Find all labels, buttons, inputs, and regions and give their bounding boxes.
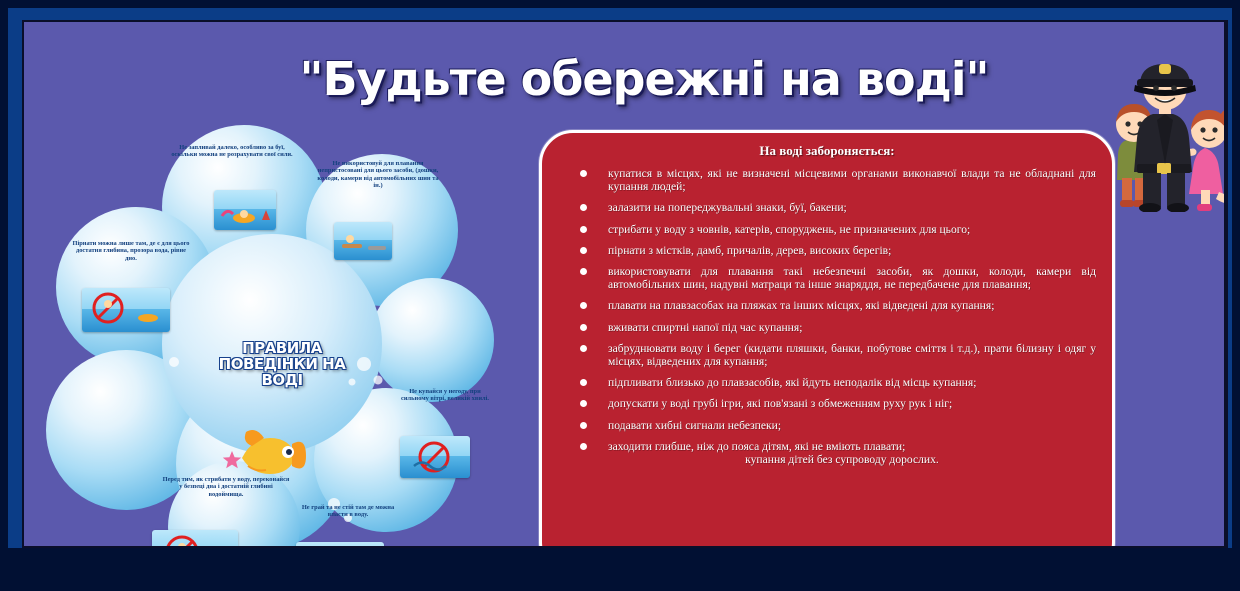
bullet-icon xyxy=(580,345,587,352)
rules-closing-line: купання дітей без супроводу дорослих. xyxy=(542,453,1112,466)
rules-heading: На воді забороняється: xyxy=(542,143,1112,159)
policeman-figure xyxy=(1134,64,1196,212)
cloud-photo-buoy xyxy=(214,190,276,230)
cloud-tip-no-improvised-floats: Не використовуй для плавання непристосов… xyxy=(317,160,439,190)
cloud-photo-no-diving xyxy=(82,288,170,332)
policeman-with-children-illustration xyxy=(1109,52,1224,212)
rule-text: заходити глибше, ніж до пояса дітям, які… xyxy=(608,440,905,453)
bullet-icon xyxy=(580,400,587,407)
bullet-icon xyxy=(580,302,587,309)
list-item: використовувати для плавання такі небезп… xyxy=(560,265,1096,291)
list-item: підпливати близько до плавзасобів, які й… xyxy=(560,376,1096,389)
rule-text: вживати спиртні напої під час купання; xyxy=(608,321,802,334)
list-item: вживати спиртні напої під час купання; xyxy=(560,321,1096,334)
list-item: заходити глибше, ніж до пояса дітям, які… xyxy=(560,440,1096,453)
rule-text: підпливати близько до плавзасобів, які й… xyxy=(608,376,976,389)
bullet-icon xyxy=(580,204,587,211)
rules-panel: На воді забороняється: купатися в місцях… xyxy=(539,130,1115,546)
bullet-icon xyxy=(580,379,587,386)
slide-canvas: "Будьте обережні на воді" xyxy=(24,22,1224,546)
starfish-icon xyxy=(222,450,242,470)
rule-text: плавати на плавзасобах на пляжах та інши… xyxy=(608,299,994,312)
cloud-photo-boards xyxy=(334,222,392,260)
bullet-icon xyxy=(580,226,587,233)
list-item: подавати хибні сигнали небезпеки; xyxy=(560,419,1096,432)
cloud-tip-no-play-near-water: Не грай та не стій там де можна впасти в… xyxy=(296,504,400,519)
rule-text: купатися в місцях, які не визначені місц… xyxy=(608,167,1096,193)
rules-list: купатися в місцях, які не визначені місц… xyxy=(542,167,1112,453)
bullet-icon xyxy=(580,443,587,450)
list-item: пірнати з містків, дамб, причалів, дерев… xyxy=(560,244,1096,257)
cloud-photo-storm xyxy=(400,436,470,478)
slide-frame: "Будьте обережні на воді" xyxy=(0,0,1240,591)
rule-text: подавати хибні сигнали небезпеки; xyxy=(608,419,781,432)
cloud-tip-diving-depth: Пірнати можна лише там, де є для цього д… xyxy=(72,240,190,262)
bullet-icon xyxy=(580,422,587,429)
goldfish-icon xyxy=(234,424,308,486)
rule-text: стрибати у воду з човнів, катерів, спору… xyxy=(608,223,970,236)
list-item: забруднювати воду і берег (кидати пляшки… xyxy=(560,342,1096,368)
cloud-tip-no-swim-far: Не запливай далеко, особливо за буї, оск… xyxy=(171,144,293,159)
list-item: залазити на попереджувальні знаки, буї, … xyxy=(560,201,1096,214)
bullet-icon xyxy=(580,247,587,254)
bullet-icon xyxy=(580,170,587,177)
list-item: стрибати у воду з човнів, катерів, спору… xyxy=(560,223,1096,236)
rule-text: забруднювати воду і берег (кидати пляшки… xyxy=(608,342,1096,368)
list-item: плавати на плавзасобах на пляжах та інши… xyxy=(560,299,1096,312)
cloud-photo-fishing-pier xyxy=(296,542,384,546)
bullet-icon xyxy=(580,324,587,331)
rule-text: пірнати з містків, дамб, причалів, дерев… xyxy=(608,244,891,257)
cloud-center-title: ПРАВИЛА ПОВЕДІНКИ НА ВОДІ xyxy=(212,340,352,388)
rule-text: залазити на попереджувальні знаки, буї, … xyxy=(608,201,847,214)
list-item: допускати у воді грубі ігри, які пов'яза… xyxy=(560,397,1096,410)
cloud-tip-no-swim-bad-weather: Не купайся у негоду, при сильному вітрі,… xyxy=(399,388,491,403)
bullet-icon xyxy=(580,268,587,275)
page-title: "Будьте обережні на воді" xyxy=(264,48,1024,110)
rule-text: використовувати для плавання такі небезп… xyxy=(608,265,1096,291)
cloud-photo-jumping xyxy=(152,530,238,546)
cloud-infographic: Не запливай далеко, особливо за буї, оск… xyxy=(34,112,504,546)
rule-text: допускати у воді грубі ігри, які пов'яза… xyxy=(608,397,952,410)
list-item: купатися в місцях, які не визначені місц… xyxy=(560,167,1096,193)
